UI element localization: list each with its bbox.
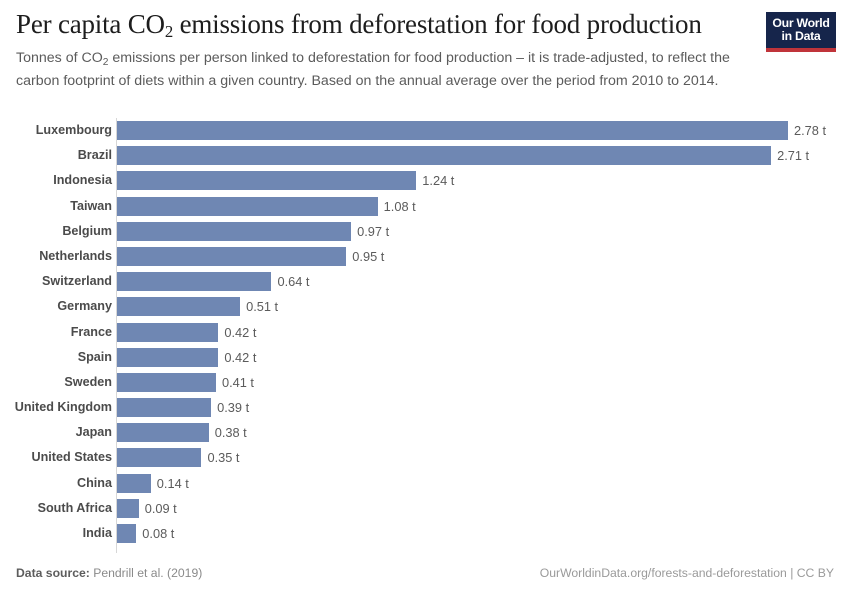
bar[interactable]	[117, 398, 211, 417]
bar-track: 0.95 t	[117, 247, 850, 266]
bar-track: 2.71 t	[117, 146, 850, 165]
bar-rows: Luxembourg2.78 tBrazil2.71 tIndonesia1.2…	[0, 118, 850, 546]
title-prefix: Per capita CO	[16, 9, 165, 39]
bar-track: 0.08 t	[117, 524, 850, 543]
bar-chart: Luxembourg2.78 tBrazil2.71 tIndonesia1.2…	[0, 118, 850, 556]
bar[interactable]	[117, 323, 218, 342]
title-suffix: emissions from deforestation for food pr…	[173, 9, 702, 39]
bar-value-label: 0.42 t	[218, 323, 256, 342]
bar-value-label: 0.64 t	[271, 272, 309, 291]
bar-value-label: 2.78 t	[788, 121, 826, 140]
bar-category-label: Luxembourg	[36, 118, 112, 143]
bar-track: 1.24 t	[117, 171, 850, 190]
bar-category-label: United Kingdom	[15, 395, 112, 420]
bar[interactable]	[117, 348, 218, 367]
bar-value-label: 2.71 t	[771, 146, 809, 165]
bar[interactable]	[117, 171, 416, 190]
bar-track: 0.64 t	[117, 272, 850, 291]
bar[interactable]	[117, 197, 378, 216]
bar-value-label: 1.24 t	[416, 171, 454, 190]
bar-row[interactable]: Taiwan1.08 t	[0, 194, 850, 219]
bar-value-label: 0.42 t	[218, 348, 256, 367]
bar-track: 0.41 t	[117, 373, 850, 392]
bar-category-label: India	[83, 521, 112, 546]
bar-category-label: France	[71, 320, 112, 345]
bar-track: 0.42 t	[117, 348, 850, 367]
bar-row[interactable]: Luxembourg2.78 t	[0, 118, 850, 143]
bar-category-label: Sweden	[64, 370, 112, 395]
bar-category-label: South Africa	[38, 496, 112, 521]
bar-category-label: Belgium	[62, 219, 112, 244]
bar-category-label: Switzerland	[42, 269, 112, 294]
bar-category-label: Germany	[57, 294, 112, 319]
bar[interactable]	[117, 247, 346, 266]
bar-track: 0.38 t	[117, 423, 850, 442]
bar-category-label: Brazil	[78, 143, 112, 168]
bar-row[interactable]: Netherlands0.95 t	[0, 244, 850, 269]
bar[interactable]	[117, 222, 351, 241]
bar-row[interactable]: Spain0.42 t	[0, 345, 850, 370]
bar-row[interactable]: Switzerland0.64 t	[0, 269, 850, 294]
bar-value-label: 0.41 t	[216, 373, 254, 392]
bar[interactable]	[117, 524, 136, 543]
bar-row[interactable]: Germany0.51 t	[0, 294, 850, 319]
bar-value-label: 0.51 t	[240, 297, 278, 316]
bar-value-label: 0.08 t	[136, 524, 174, 543]
bar-category-label: United States	[32, 445, 112, 470]
bar-track: 0.51 t	[117, 297, 850, 316]
bar-value-label: 0.09 t	[139, 499, 177, 518]
bar-value-label: 0.35 t	[201, 448, 239, 467]
bar[interactable]	[117, 297, 240, 316]
bar-row[interactable]: Brazil2.71 t	[0, 143, 850, 168]
bar-category-label: China	[77, 471, 112, 496]
bar-row[interactable]: China0.14 t	[0, 471, 850, 496]
subtitle-suffix: emissions per person linked to deforesta…	[16, 50, 730, 89]
bar-value-label: 0.95 t	[346, 247, 384, 266]
attribution-link[interactable]: OurWorldinData.org/forests-and-deforesta…	[540, 566, 834, 580]
bar[interactable]	[117, 272, 271, 291]
bar-row[interactable]: Indonesia1.24 t	[0, 168, 850, 193]
bar-row[interactable]: Japan0.38 t	[0, 420, 850, 445]
chart-subtitle: Tonnes of CO2 emissions per person linke…	[16, 48, 761, 91]
bar-row[interactable]: France0.42 t	[0, 320, 850, 345]
bar[interactable]	[117, 499, 139, 518]
bar-category-label: Japan	[76, 420, 112, 445]
bar-track: 0.39 t	[117, 398, 850, 417]
bar-value-label: 0.38 t	[209, 423, 247, 442]
page-title: Per capita CO2 emissions from deforestat…	[16, 8, 756, 44]
bar-track: 2.78 t	[117, 121, 850, 140]
bar-track: 0.42 t	[117, 323, 850, 342]
bar-category-label: Netherlands	[39, 244, 112, 269]
our-world-in-data-logo[interactable]: Our World in Data	[766, 12, 836, 52]
logo-line-2: in Data	[782, 30, 821, 43]
subtitle-prefix: Tonnes of CO	[16, 50, 103, 66]
bar[interactable]	[117, 448, 201, 467]
bar-category-label: Taiwan	[70, 194, 112, 219]
chart-page: Per capita CO2 emissions from deforestat…	[0, 0, 850, 600]
bar-row[interactable]: India0.08 t	[0, 521, 850, 546]
bar-row[interactable]: United Kingdom0.39 t	[0, 395, 850, 420]
bar-value-label: 0.39 t	[211, 398, 249, 417]
bar-value-label: 1.08 t	[378, 197, 416, 216]
data-source-label: Data source:	[16, 566, 90, 580]
bar-row[interactable]: Belgium0.97 t	[0, 219, 850, 244]
bar-value-label: 0.14 t	[151, 474, 189, 493]
bar-category-label: Indonesia	[53, 168, 112, 193]
bar-track: 0.97 t	[117, 222, 850, 241]
chart-footer: Data source: Pendrill et al. (2019) OurW…	[0, 566, 850, 586]
bar-category-label: Spain	[78, 345, 112, 370]
bar-track: 0.14 t	[117, 474, 850, 493]
bar-row[interactable]: United States0.35 t	[0, 445, 850, 470]
bar-track: 0.09 t	[117, 499, 850, 518]
title-subscript: 2	[165, 22, 173, 41]
bar[interactable]	[117, 423, 209, 442]
bar[interactable]	[117, 373, 216, 392]
bar-row[interactable]: South Africa0.09 t	[0, 496, 850, 521]
bar-row[interactable]: Sweden0.41 t	[0, 370, 850, 395]
bar-value-label: 0.97 t	[351, 222, 389, 241]
bar[interactable]	[117, 146, 771, 165]
data-source-value: Pendrill et al. (2019)	[93, 566, 202, 580]
subtitle-subscript: 2	[103, 57, 109, 68]
bar[interactable]	[117, 474, 151, 493]
bar-track: 0.35 t	[117, 448, 850, 467]
bar-track: 1.08 t	[117, 197, 850, 216]
bar[interactable]	[117, 121, 788, 140]
data-source: Data source: Pendrill et al. (2019)	[16, 566, 202, 580]
